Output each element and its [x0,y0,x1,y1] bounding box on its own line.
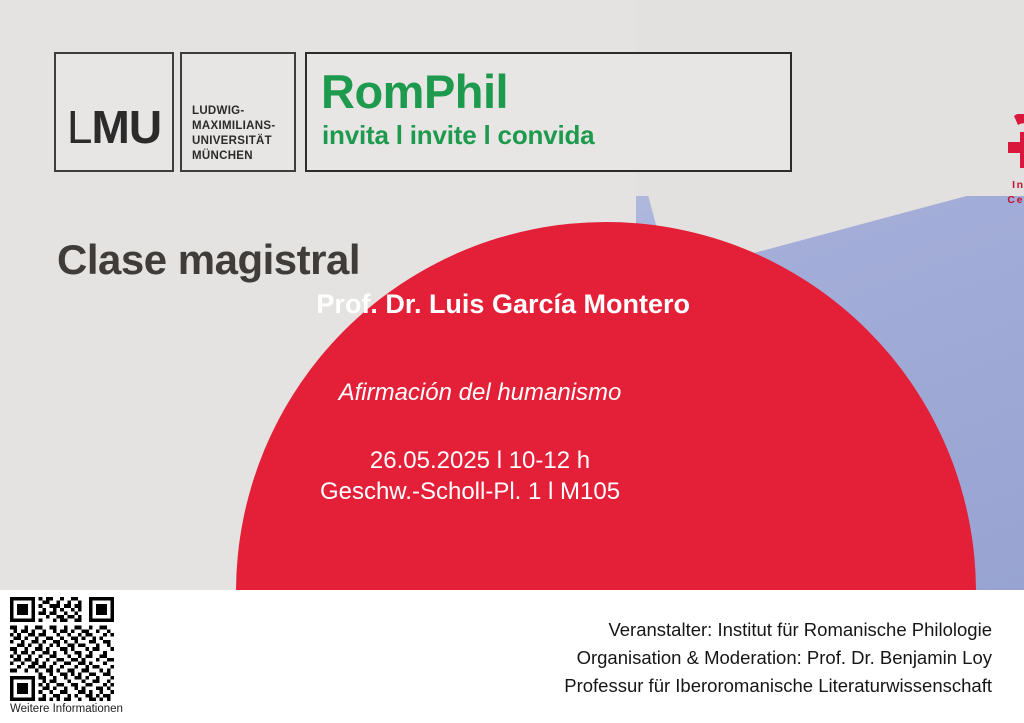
instituto-cervantes-logo: Instituto Cervantes [990,114,1024,214]
lmu-name-box: LUDWIG- MAXIMILIANS- UNIVERSITÄT MÜNCHEN [180,52,296,172]
lmu-name-line-4: MÜNCHEN [192,149,275,164]
footer-line-organizer: Veranstalter: Institut für Romanische Ph… [564,616,992,644]
event-venue: Geschw.-Scholl-Pl. 1 l M105 [260,474,680,510]
lmu-logo-mu: MU [92,101,162,153]
footer-credits: Veranstalter: Institut für Romanische Ph… [564,616,992,700]
cervantes-tilde-icon [990,114,1024,176]
lecture-title: Afirmación del humanismo [270,379,690,407]
poster-canvas: UNIVERSITAT MVXIMA [0,0,1024,723]
lmu-name-line-2: MAXIMILIANS- [192,119,275,134]
footer-line-moderation: Organisation & Moderation: Prof. Dr. Ben… [564,644,992,672]
lmu-name-line-3: UNIVERSITÄT [192,134,275,149]
qr-caption: Weitere Informationen [10,703,128,715]
romphil-title: RomPhil [321,64,508,119]
cervantes-caption: Instituto Cervantes [990,178,1024,208]
footer-line-chair: Professur für Iberoromanische Literaturw… [564,672,992,700]
qr-code-icon[interactable] [10,597,114,701]
lmu-name-lines: LUDWIG- MAXIMILIANS- UNIVERSITÄT MÜNCHEN [192,104,275,164]
cervantes-line-1: Instituto [990,178,1024,193]
lmu-logo-mark: LMU [54,52,174,172]
page-title: Clase magistral [57,236,360,284]
lmu-logo-text: LMU [56,100,172,154]
speaker-name: Prof. Dr. Luis García Montero [300,288,690,321]
romphil-banner: RomPhil invita l invite l convida Instit… [305,52,792,172]
lmu-name-line-1: LUDWIG- [192,104,275,119]
cervantes-line-2: Cervantes [990,193,1024,208]
romphil-subtitle: invita l invite l convida [322,120,594,151]
qr-code-block[interactable]: Weitere Informationen [10,597,128,715]
lmu-logo-l: L [67,101,92,153]
